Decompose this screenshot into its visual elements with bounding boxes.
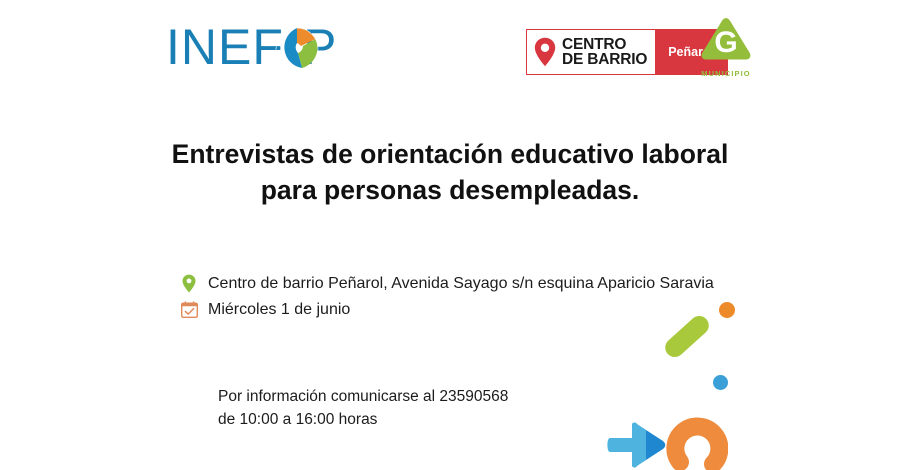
municipio-logo: G MUNICIPIO bbox=[697, 17, 755, 79]
municipio-label: MUNICIPIO bbox=[697, 69, 755, 78]
orange-arc-decoration bbox=[666, 414, 728, 470]
contact-line-1: Por información comunicarse al 23590568 bbox=[218, 385, 508, 408]
headline-line-2: para personas desempleadas. bbox=[110, 172, 790, 208]
info-date-text: Miércoles 1 de junio bbox=[208, 301, 350, 319]
map-pin-icon bbox=[179, 274, 199, 294]
info-row-location: Centro de barrio Peñarol, Avenida Sayago… bbox=[179, 272, 714, 295]
headline: Entrevistas de orientación educativo lab… bbox=[110, 136, 790, 208]
event-info-block: Centro de barrio Peñarol, Avenida Sayago… bbox=[179, 272, 714, 324]
centro-line-1: CENTRO bbox=[562, 37, 647, 53]
inefop-logo: INEF P bbox=[166, 20, 351, 78]
info-row-date: Miércoles 1 de junio bbox=[179, 298, 714, 321]
headline-line-1: Entrevistas de orientación educativo lab… bbox=[110, 136, 790, 172]
calendar-check-icon bbox=[179, 300, 199, 320]
centro-de-barrio-left: CENTRO DE BARRIO bbox=[527, 30, 655, 74]
contact-block: Por información comunicarse al 23590568 … bbox=[218, 385, 508, 431]
orange-dot-decoration bbox=[719, 302, 735, 318]
poster-canvas: INEF P CENTRO DE BARRIO Peñarol bbox=[0, 0, 900, 470]
centro-line-2: DE BARRIO bbox=[562, 52, 647, 68]
centro-de-barrio-wordmark: CENTRO DE BARRIO bbox=[562, 37, 647, 68]
map-pin-icon bbox=[534, 37, 556, 67]
info-location-text: Centro de barrio Peñarol, Avenida Sayago… bbox=[208, 275, 714, 293]
svg-text:G: G bbox=[714, 26, 737, 59]
municipio-triangle-icon: G bbox=[700, 17, 752, 63]
contact-line-2: de 10:00 a 16:00 horas bbox=[218, 408, 508, 431]
blue-arrow-decoration bbox=[606, 422, 668, 470]
blue-dot-decoration bbox=[713, 375, 728, 390]
svg-text:INEF: INEF bbox=[166, 20, 284, 75]
